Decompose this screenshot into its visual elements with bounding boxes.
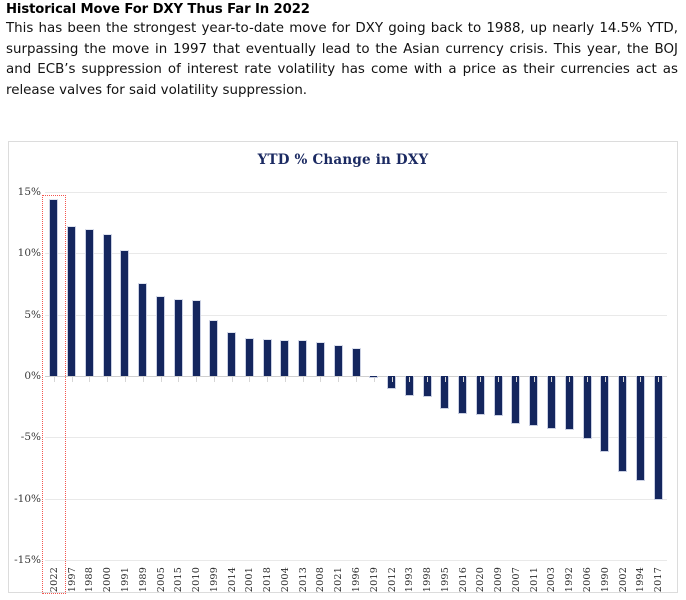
article-title: Historical Move For DXY Thus Far In 2022 — [6, 2, 680, 17]
x-axis-label-2020: 2020 — [475, 567, 486, 592]
x-axis-tick — [498, 377, 499, 382]
bar-2001 — [245, 338, 254, 376]
bar-2021 — [334, 345, 343, 376]
bar-1999 — [209, 320, 218, 376]
gridline — [45, 437, 667, 438]
bar-2022 — [49, 199, 58, 376]
x-axis-label-2014: 2014 — [227, 567, 238, 592]
y-axis-tick-label: 5% — [24, 309, 41, 321]
x-axis-tick — [605, 377, 606, 382]
bar-2002 — [618, 376, 627, 472]
x-axis-label-1997: 1997 — [67, 567, 78, 592]
bar-2008 — [316, 342, 325, 376]
x-axis-tick — [356, 377, 357, 382]
bar-2006 — [583, 376, 592, 439]
x-axis-tick — [107, 377, 108, 382]
x-axis-label-1999: 1999 — [209, 567, 220, 592]
x-axis-label-1989: 1989 — [138, 567, 149, 592]
bar-1992 — [565, 376, 574, 430]
y-axis-tick-label: -15% — [14, 554, 41, 566]
x-axis-label-1993: 1993 — [404, 567, 415, 592]
x-axis-label-2008: 2008 — [315, 567, 326, 592]
x-axis-tick — [374, 377, 375, 382]
x-axis-label-2011: 2011 — [529, 567, 540, 592]
x-axis-tick — [303, 377, 304, 382]
x-axis-tick — [569, 377, 570, 382]
x-axis-tick — [551, 377, 552, 382]
bar-2005 — [156, 296, 165, 376]
x-axis-label-2001: 2001 — [244, 567, 255, 592]
x-axis-label-2021: 2021 — [333, 567, 344, 592]
x-axis-tick — [72, 377, 73, 382]
x-axis-tick — [658, 377, 659, 382]
bar-2015 — [174, 299, 183, 376]
x-axis-label-2015: 2015 — [173, 567, 184, 592]
y-axis-tick-label: -5% — [21, 431, 41, 443]
x-axis-label-2010: 2010 — [191, 567, 202, 592]
bar-2010 — [192, 300, 201, 376]
x-axis-label-2017: 2017 — [653, 567, 664, 592]
x-axis-tick — [178, 377, 179, 382]
x-axis-tick — [320, 377, 321, 382]
bar-1996 — [352, 348, 361, 376]
bar-1990 — [600, 376, 609, 452]
bar-1988 — [85, 229, 94, 376]
gridline — [45, 499, 667, 500]
x-axis-label-2012: 2012 — [387, 567, 398, 592]
x-axis-label-2002: 2002 — [618, 567, 629, 592]
x-axis-tick — [480, 377, 481, 382]
article-header: Historical Move For DXY Thus Far In 2022… — [6, 2, 680, 101]
x-axis-label-2019: 2019 — [369, 567, 380, 592]
bar-2004 — [280, 340, 289, 376]
bar-2013 — [298, 340, 307, 376]
x-axis-tick — [409, 377, 410, 382]
bar-2014 — [227, 332, 236, 376]
x-axis-label-1988: 1988 — [84, 567, 95, 592]
y-axis: 15%10%5%0%-5%-10%-15% — [9, 192, 45, 560]
x-axis: 2022199719882000199119892005201520101999… — [45, 560, 667, 594]
x-axis-tick — [232, 377, 233, 382]
x-axis-tick — [463, 377, 464, 382]
x-axis-label-2018: 2018 — [262, 567, 273, 592]
bar-1989 — [138, 283, 147, 376]
x-axis-tick — [445, 377, 446, 382]
x-axis-tick — [587, 377, 588, 382]
y-axis-tick-label: -10% — [14, 493, 41, 505]
bar-2009 — [494, 376, 503, 416]
y-axis-tick-label: 0% — [24, 370, 41, 382]
bar-2011 — [529, 376, 538, 426]
x-axis-tick — [89, 377, 90, 382]
bar-1991 — [120, 250, 129, 376]
plot-area — [45, 192, 667, 560]
x-axis-label-1991: 1991 — [120, 567, 131, 592]
x-axis-tick — [516, 377, 517, 382]
x-axis-label-2013: 2013 — [298, 567, 309, 592]
x-axis-label-1992: 1992 — [564, 567, 575, 592]
article-body: This has been the strongest year-to-date… — [6, 19, 678, 101]
x-axis-label-1996: 1996 — [351, 567, 362, 592]
x-axis-tick — [427, 377, 428, 382]
gridline — [45, 253, 667, 254]
x-axis-label-2005: 2005 — [156, 567, 167, 592]
bar-1994 — [636, 376, 645, 481]
bar-2017 — [654, 376, 663, 500]
x-axis-tick — [143, 377, 144, 382]
x-axis-label-2006: 2006 — [582, 567, 593, 592]
x-axis-label-2022: 2022 — [49, 567, 60, 592]
x-axis-tick — [623, 377, 624, 382]
y-axis-tick-label: 15% — [18, 186, 41, 198]
x-axis-label-2007: 2007 — [511, 567, 522, 592]
page-root: Historical Move For DXY Thus Far In 2022… — [0, 0, 686, 600]
x-axis-label-2004: 2004 — [280, 567, 291, 592]
chart-title: YTD % Change in DXY — [9, 152, 677, 168]
bar-2007 — [511, 376, 520, 424]
x-axis-label-2000: 2000 — [102, 567, 113, 592]
x-axis-tick — [125, 377, 126, 382]
x-axis-tick — [214, 377, 215, 382]
x-axis-label-1994: 1994 — [635, 567, 646, 592]
x-axis-label-2016: 2016 — [458, 567, 469, 592]
x-axis-tick — [392, 377, 393, 382]
y-axis-tick-label: 10% — [18, 247, 41, 259]
x-axis-tick — [249, 377, 250, 382]
bar-2018 — [263, 339, 272, 376]
gridline — [45, 192, 667, 193]
bar-2003 — [547, 376, 556, 429]
x-axis-tick — [285, 377, 286, 382]
x-axis-tick — [196, 377, 197, 382]
x-axis-tick — [640, 377, 641, 382]
chart-container: YTD % Change in DXY 15%10%5%0%-5%-10%-15… — [8, 141, 678, 593]
x-axis-label-2003: 2003 — [546, 567, 557, 592]
x-axis-tick — [54, 377, 55, 382]
x-axis-tick — [267, 377, 268, 382]
x-axis-label-1990: 1990 — [600, 567, 611, 592]
x-axis-tick — [161, 377, 162, 382]
bar-1997 — [67, 226, 76, 376]
x-axis-label-1995: 1995 — [440, 567, 451, 592]
x-axis-tick — [338, 377, 339, 382]
x-axis-label-2009: 2009 — [493, 567, 504, 592]
x-axis-label-1998: 1998 — [422, 567, 433, 592]
x-axis-tick — [534, 377, 535, 382]
bar-2000 — [103, 234, 112, 376]
